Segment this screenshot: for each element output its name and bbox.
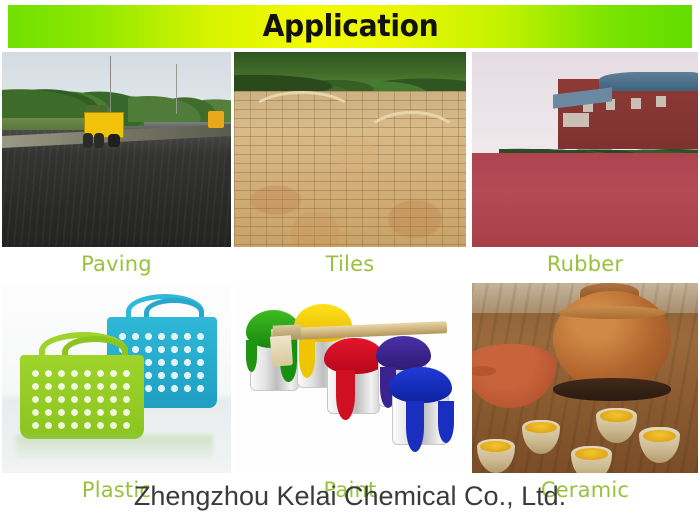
paint-brush-bristles xyxy=(270,335,293,367)
path-edge-curve-left xyxy=(248,91,356,140)
utility-pole-far-icon xyxy=(176,64,177,115)
roller-wheel xyxy=(83,133,93,148)
paint-blob-purple xyxy=(376,336,432,370)
paint-drip-red xyxy=(336,370,355,419)
asphalt-road xyxy=(2,130,231,247)
road-roller-vehicle xyxy=(80,105,126,148)
gallery-cell-tiles[interactable]: Tiles xyxy=(234,52,466,281)
gallery-cell-ceramic[interactable]: Ceramic xyxy=(472,283,698,507)
caption-paving: Paving xyxy=(2,247,231,281)
photo-grid: Paving Tiles xyxy=(0,52,700,514)
gallery-cell-plastic[interactable]: Plastic xyxy=(2,283,231,507)
surface-reflection xyxy=(16,435,213,462)
tiles-photo[interactable] xyxy=(234,52,466,247)
paving-photo[interactable] xyxy=(2,52,231,247)
gallery-cell-rubber[interactable]: Rubber xyxy=(472,52,698,281)
rubber-photo[interactable] xyxy=(472,52,698,247)
gallery-cell-paving[interactable]: Paving xyxy=(2,52,231,281)
plastic-photo[interactable] xyxy=(2,283,231,473)
paint-photo[interactable] xyxy=(234,283,466,473)
ceramic-photo[interactable] xyxy=(472,283,698,473)
tea-liquid xyxy=(525,422,556,434)
tea-liquid xyxy=(600,410,633,422)
paint-drip-yellow xyxy=(299,336,315,378)
paint-drip-blue xyxy=(438,401,454,443)
tea-liquid xyxy=(643,430,676,442)
tea-liquid xyxy=(480,441,511,453)
paint-blob-blue xyxy=(389,367,452,403)
gallery-row-1: Paving Tiles xyxy=(0,52,700,283)
banner-title: Application xyxy=(262,9,438,44)
path-edge-curve-right xyxy=(363,111,462,168)
tea-cup xyxy=(571,446,612,473)
tea-liquid xyxy=(575,448,608,460)
application-gallery-page: Application xyxy=(0,0,700,531)
bowl-interior xyxy=(472,366,496,376)
roller-wheel xyxy=(94,133,104,148)
blue-roof xyxy=(599,72,698,92)
teapot-decorative-band xyxy=(558,306,666,319)
distant-vehicle xyxy=(208,111,224,129)
caption-tiles: Tiles xyxy=(234,247,466,281)
green-plastic-basket xyxy=(20,355,144,439)
teapot-wooden-stand xyxy=(553,378,671,401)
paint-drip-blue xyxy=(406,401,425,452)
building-window xyxy=(631,98,641,109)
application-banner: Application xyxy=(8,5,692,48)
gallery-cell-paint[interactable]: Paint xyxy=(234,283,466,507)
gallery-row-2: Plastic xyxy=(0,283,700,514)
company-name-watermark: Zhengzhou Kelai Chemical Co., Ltd. xyxy=(0,481,700,512)
building-entrance xyxy=(563,113,588,127)
caption-rubber: Rubber xyxy=(472,247,698,281)
building-window xyxy=(656,96,666,107)
basket-perforations xyxy=(29,367,135,431)
roller-drum xyxy=(108,134,120,147)
